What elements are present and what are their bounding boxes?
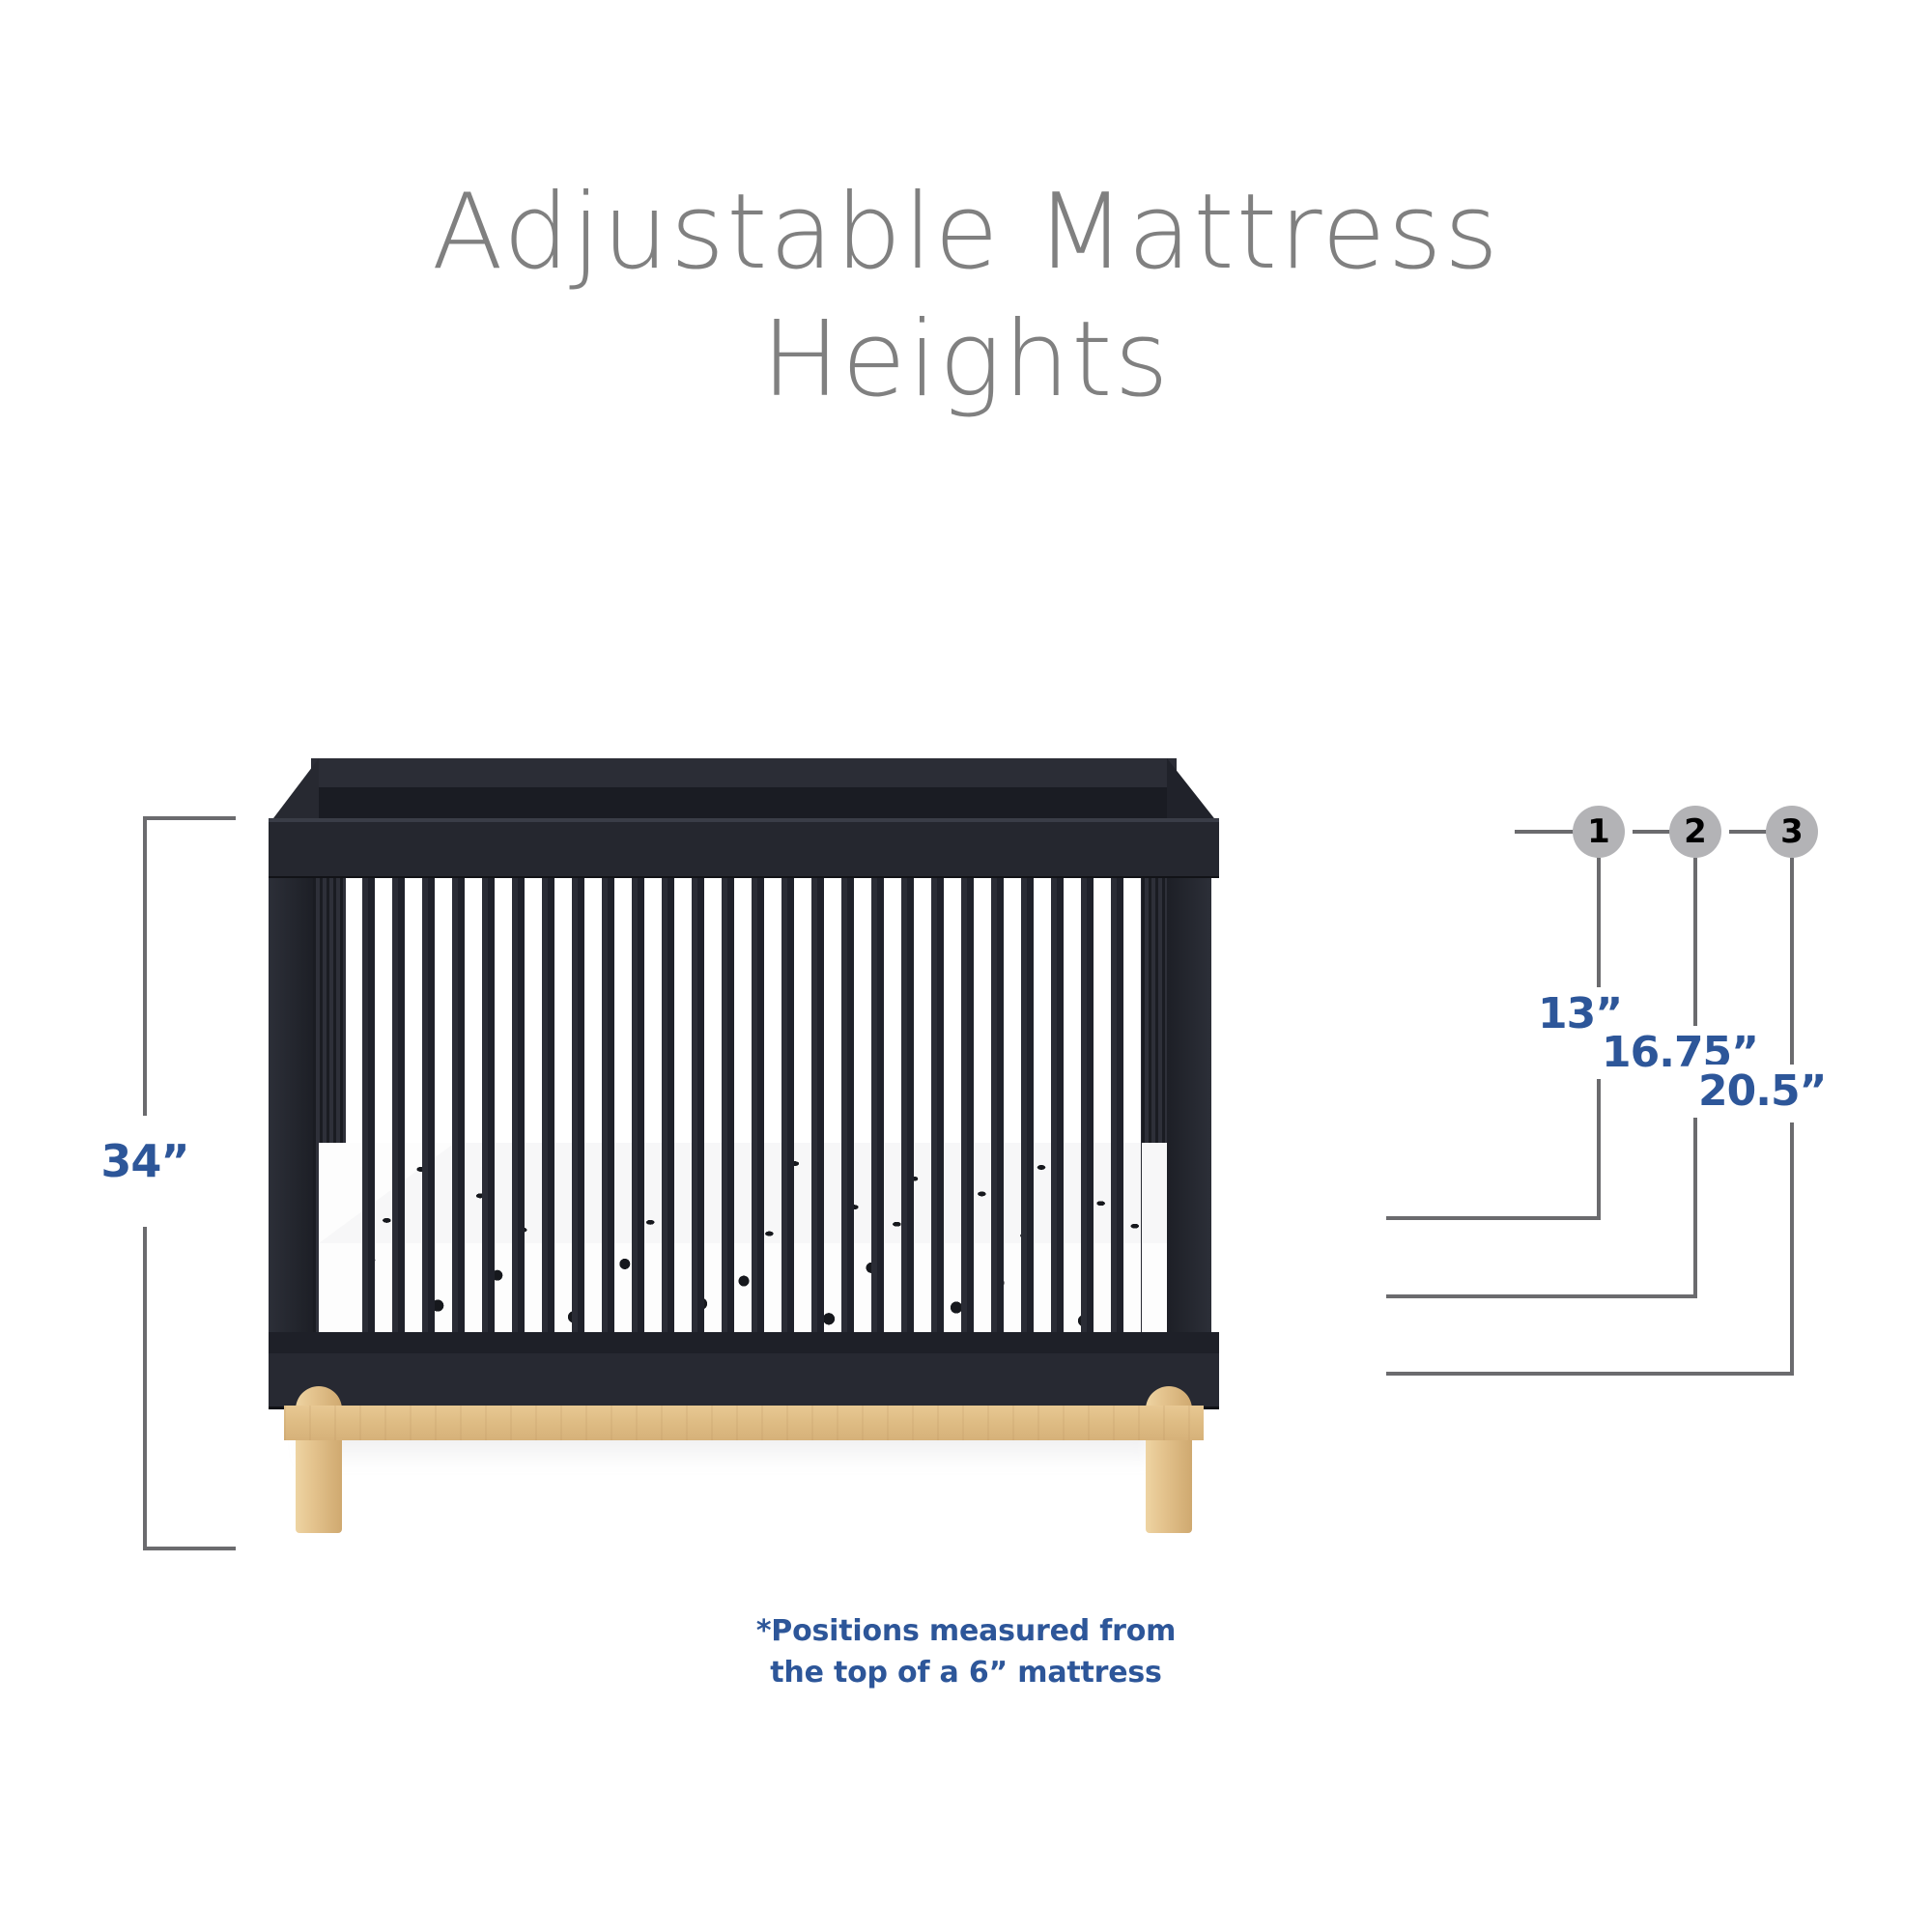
position-marker-3[interactable]: 3 bbox=[1766, 806, 1818, 858]
crib-front-top-rail-highlight bbox=[269, 818, 1219, 822]
crib-illustration bbox=[261, 758, 1227, 1521]
footnote-line-1: *Positions measured from bbox=[756, 1614, 1176, 1648]
crib-back-top-rail bbox=[311, 758, 1177, 791]
crib-front-slats-lower bbox=[346, 1143, 1142, 1332]
footnote-line-2: the top of a 6” mattress bbox=[0, 1653, 1932, 1694]
position-3-leader-horizontal bbox=[1386, 1372, 1794, 1376]
page-title: Adjustable Mattress Heights bbox=[0, 169, 1932, 424]
position-1-leader-horizontal bbox=[1386, 1216, 1601, 1220]
crib-wood-base-rail bbox=[284, 1406, 1204, 1440]
crib-right-post bbox=[1167, 878, 1211, 1332]
position-2-leader-upper bbox=[1693, 858, 1697, 1034]
diagram-canvas: Adjustable Mattress Heights 34” 1 bbox=[0, 0, 1932, 1932]
height-dimension-line-lower bbox=[143, 1227, 147, 1550]
position-2-leader-horizontal bbox=[1386, 1294, 1697, 1298]
marker-2-stub-line bbox=[1633, 830, 1671, 834]
overall-height-label: 34” bbox=[58, 1135, 232, 1187]
position-3-leader-upper bbox=[1790, 858, 1794, 1067]
position-3-measurement-label: 20.5” bbox=[1692, 1065, 1832, 1118]
position-3-leader-lower bbox=[1790, 1122, 1794, 1376]
marker-3-stub-line bbox=[1729, 830, 1768, 834]
position-marker-1[interactable]: 1 bbox=[1573, 806, 1625, 858]
height-dimension-line-upper bbox=[143, 816, 147, 1116]
position-marker-2[interactable]: 2 bbox=[1669, 806, 1721, 858]
height-dimension-tick-bottom bbox=[143, 1547, 236, 1550]
crib-front-top-rail bbox=[269, 818, 1219, 878]
crib-left-perspective-wedge bbox=[270, 758, 319, 822]
crib-base-panel bbox=[269, 1353, 1219, 1409]
position-1-leader-upper bbox=[1597, 858, 1601, 997]
page-title-line-1: Adjustable Mattress bbox=[432, 172, 1500, 293]
marker-1-stub-line bbox=[1515, 830, 1575, 834]
height-dimension-tick-top bbox=[143, 816, 236, 820]
crib-left-post bbox=[269, 878, 313, 1332]
footnote: *Positions measured from the top of a 6”… bbox=[0, 1611, 1932, 1693]
page-title-line-2: Heights bbox=[0, 297, 1932, 424]
